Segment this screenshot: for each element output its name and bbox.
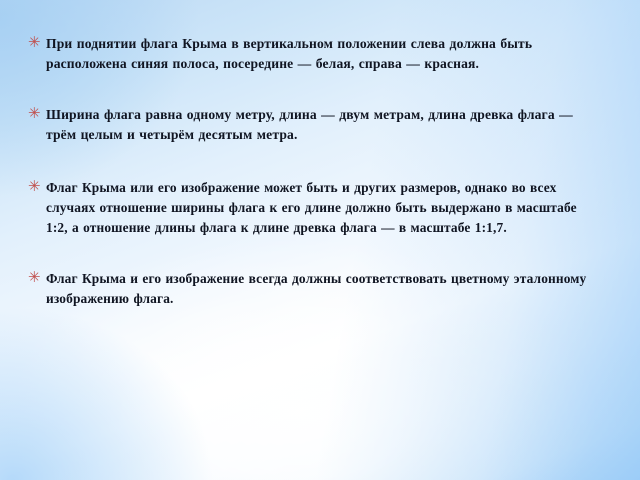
list-item: ✳ При поднятии флага Крыма в вертикально… <box>28 34 596 73</box>
slide-content-placeholder: ✳ При поднятии флага Крыма в вертикально… <box>0 0 640 480</box>
bullet-paragraph-text: Флаг Крыма и его изображение всегда долж… <box>46 269 596 308</box>
asterisk-bullet-icon: ✳ <box>28 34 44 53</box>
asterisk-bullet-icon: ✳ <box>28 269 44 288</box>
asterisk-bullet-icon: ✳ <box>28 178 44 197</box>
presentation-slide: ✳ При поднятии флага Крыма в вертикально… <box>0 0 640 480</box>
asterisk-bullet-icon: ✳ <box>28 105 44 124</box>
bullet-list: ✳ При поднятии флага Крыма в вертикально… <box>28 34 596 308</box>
list-item: ✳ Ширина флага равна одному метру, длина… <box>28 105 596 144</box>
bullet-paragraph-text: Ширина флага равна одному метру, длина —… <box>46 105 596 144</box>
list-item: ✳ Флаг Крыма и его изображение всегда до… <box>28 269 596 308</box>
list-item: ✳ Флаг Крыма или его изображение может б… <box>28 178 596 237</box>
bullet-paragraph-text: При поднятии флага Крыма в вертикальном … <box>46 34 596 73</box>
bullet-paragraph-text: Флаг Крыма или его изображение может быт… <box>46 178 596 237</box>
